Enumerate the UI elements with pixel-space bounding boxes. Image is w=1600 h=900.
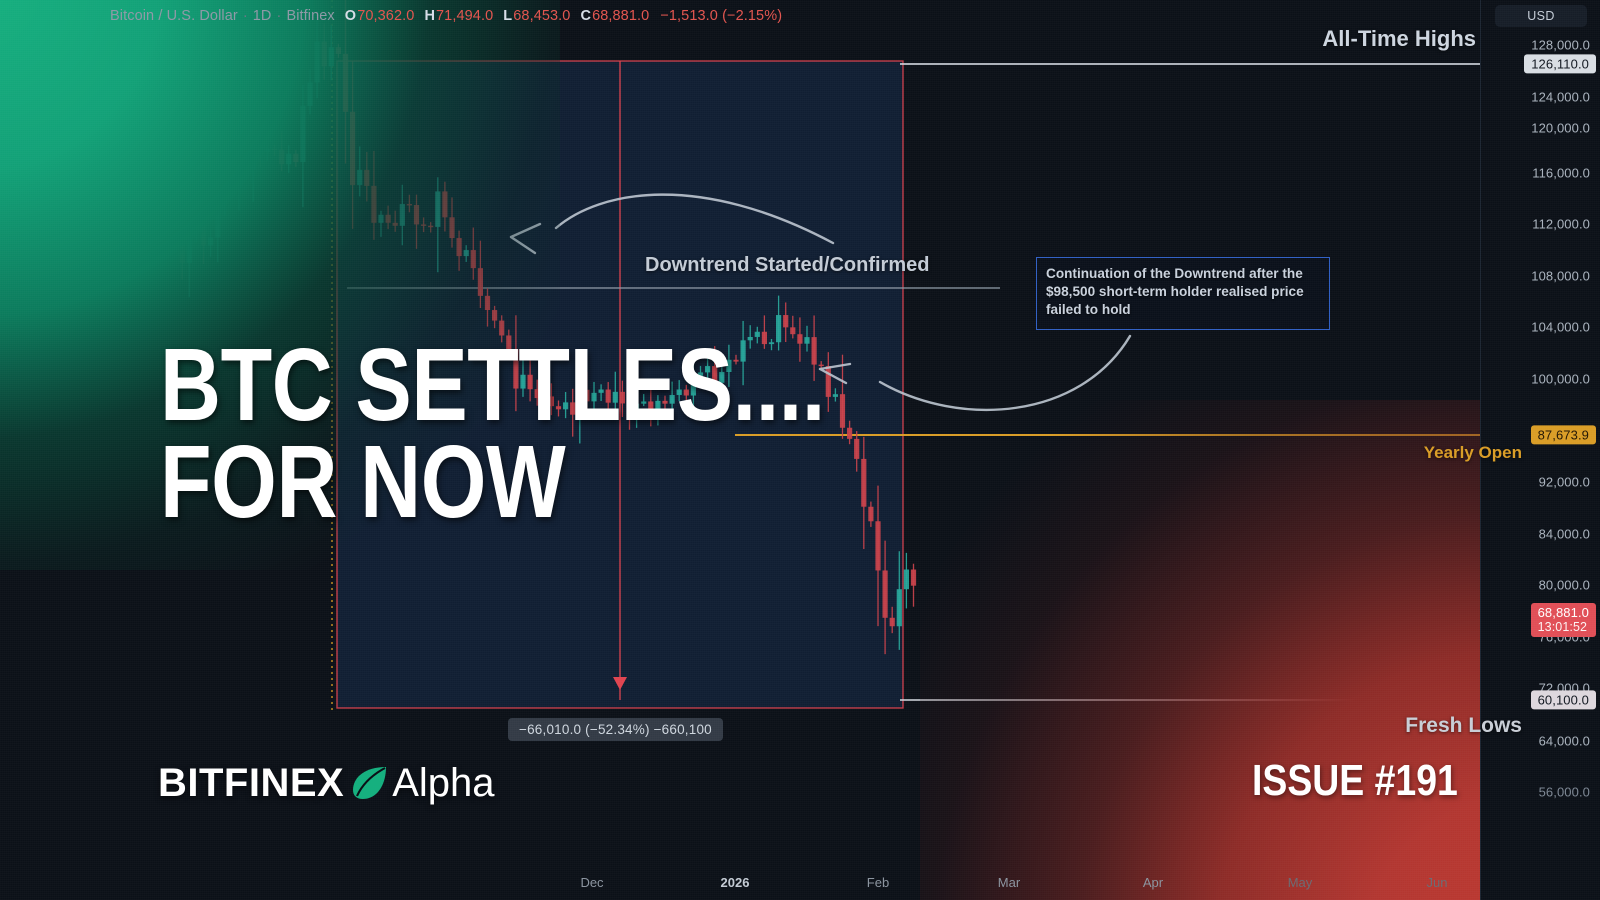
brand-bitfinex-text: BITFINEX (158, 761, 344, 806)
candle-body (492, 310, 497, 321)
candle-body (847, 428, 852, 439)
ohlc-close-value: 68,881.0 (592, 8, 649, 24)
candle-body (130, 208, 135, 237)
headline-line-2: FOR NOW (160, 434, 825, 531)
candle-body (861, 459, 866, 507)
time-tick: Dec (580, 875, 603, 890)
page-title: BTC SETTLES.... FOR NOW (160, 337, 825, 531)
price-tick: 80,000.0 (1539, 578, 1590, 593)
candle-body (102, 175, 107, 184)
time-tick: 2026 (721, 875, 750, 890)
ohlc-low-label: L (503, 8, 512, 24)
time-tick: Apr (1143, 875, 1163, 890)
candle-body (883, 570, 888, 617)
candle-body (123, 208, 128, 218)
candle-body (201, 223, 206, 245)
candle-body (315, 42, 320, 83)
candle-body (421, 224, 426, 225)
price-tick: 104,000.0 (1531, 320, 1590, 335)
candle-body (485, 296, 490, 310)
downtrend-callout-box: Continuation of the Downtrend after the … (1036, 257, 1330, 330)
candle-body (854, 439, 859, 459)
ohlc-low-value: 68,453.0 (513, 8, 570, 24)
candle-body (165, 241, 170, 243)
candle-body (783, 315, 788, 327)
ohlc-high-value: 71,494.0 (436, 8, 493, 24)
candle-body (180, 242, 185, 263)
ohlc-change: −1,513.0 (−2.15%) (660, 8, 782, 24)
price-pill-white[interactable]: 126,110.0 (1524, 54, 1596, 73)
candle-body (357, 170, 362, 185)
candle-body (187, 230, 192, 263)
candle-body (350, 112, 355, 185)
price-tick: 124,000.0 (1531, 90, 1590, 105)
time-axis[interactable]: Dec2026FebMarAprMayJun (0, 866, 1480, 900)
ohlc-high-label: H (424, 8, 435, 24)
price-pill-red[interactable]: 68,881.013:01:52 (1531, 603, 1596, 637)
all-time-highs-label: All-Time Highs (1322, 26, 1476, 52)
candle-body (215, 203, 220, 237)
candle-body (428, 226, 433, 227)
leaf-icon (350, 763, 390, 803)
ohlc-open-value: 70,362.0 (357, 8, 414, 24)
candle-body (236, 161, 241, 184)
price-pill-gold[interactable]: 87,673.9 (1531, 425, 1596, 444)
price-tick: 92,000.0 (1539, 475, 1590, 490)
candle-body (208, 237, 213, 245)
price-tick: 120,000.0 (1531, 121, 1590, 136)
candle-body (449, 217, 454, 238)
ohlc-open-label: O (345, 8, 356, 24)
candle-body (393, 223, 398, 226)
candle-body (897, 589, 902, 626)
candle-body (826, 366, 831, 397)
price-tick: 56,000.0 (1539, 785, 1590, 800)
candle-body (94, 174, 99, 175)
yearly-open-label: Yearly Open (1424, 443, 1522, 463)
candle-body (322, 42, 327, 67)
candle-body (151, 235, 156, 244)
ticker-header: Bitcoin / U.S. Dollar · 1D · Bitfinex O … (110, 6, 782, 26)
bitfinex-alpha-logo: BITFINEX Alpha (158, 760, 495, 806)
candle-body (868, 507, 873, 522)
issue-number: ISSUE #191 (1252, 756, 1458, 806)
candle-body (875, 521, 880, 570)
ticker-interval: 1D (253, 8, 272, 24)
candle-body (840, 394, 845, 428)
candle-body (272, 149, 277, 150)
time-tick: Jun (1427, 875, 1448, 890)
price-pill-lilac[interactable]: 60,100.0 (1531, 690, 1596, 709)
countdown-text: 13:01:52 (1538, 620, 1589, 635)
candle-body (194, 223, 199, 230)
candle-body (329, 47, 334, 66)
ticker-separator-1: · (238, 8, 253, 24)
ohlc-close-label: C (580, 8, 591, 24)
candle-body (109, 183, 114, 184)
currency-button[interactable]: USD (1495, 5, 1587, 27)
candle-body (336, 47, 341, 54)
brand-alpha-text: Alpha (392, 761, 494, 806)
candle-body (407, 204, 412, 205)
ticker-exchange: Bitfinex (286, 8, 334, 24)
price-tick: 100,000.0 (1531, 372, 1590, 387)
candle-body (890, 618, 895, 626)
price-tick: 108,000.0 (1531, 269, 1590, 284)
candle-body (442, 191, 447, 217)
candle-body (904, 570, 909, 590)
price-tick: 128,000.0 (1531, 38, 1590, 53)
price-tick: 84,000.0 (1539, 527, 1590, 542)
candle-body (307, 83, 312, 106)
candle-body (137, 231, 142, 237)
price-tick: 116,000.0 (1532, 166, 1590, 181)
candle-body (286, 154, 291, 164)
candle-body (244, 161, 249, 169)
time-tick: May (1288, 875, 1313, 890)
measurement-tooltip: −66,010.0 (−52.34%) −660,100 (508, 718, 723, 741)
ticker-symbol: Bitcoin / U.S. Dollar (110, 8, 238, 24)
candle-body (279, 150, 284, 165)
candle-body (258, 139, 263, 152)
candle-body (158, 243, 163, 244)
time-tick: Feb (867, 875, 889, 890)
candle-body (300, 106, 305, 162)
candle-body (173, 241, 178, 242)
price-tick: 112,000.0 (1532, 217, 1590, 232)
ticker-separator-2: · (272, 8, 287, 24)
fresh-lows-label: Fresh Lows (1405, 714, 1522, 738)
candle-body (457, 238, 462, 256)
time-tick: Mar (998, 875, 1020, 890)
candle-body (471, 250, 476, 268)
candle-body (144, 231, 149, 235)
candle-body (251, 139, 256, 169)
candle-body (378, 215, 383, 223)
candle-body (833, 394, 838, 397)
candle-body (265, 149, 270, 152)
candle-body (478, 268, 483, 296)
candle-body (911, 570, 916, 586)
price-tick: 64,000.0 (1539, 734, 1590, 749)
candle-body (414, 205, 419, 224)
headline-line-1: BTC SETTLES.... (160, 337, 825, 434)
candle-body (386, 215, 391, 223)
candle-body (371, 186, 376, 223)
candle-body (343, 54, 348, 112)
candle-body (229, 185, 234, 188)
candle-body (400, 204, 405, 226)
candle-body (116, 183, 121, 219)
candle-body (364, 170, 369, 186)
candle-body (435, 191, 440, 226)
candle-body (293, 154, 298, 162)
downtrend-label: Downtrend Started/Confirmed (645, 254, 929, 277)
candle-body (464, 250, 469, 256)
candle-body (222, 187, 227, 203)
poster-canvas: Bitcoin / U.S. Dollar · 1D · Bitfinex O … (0, 0, 1600, 900)
